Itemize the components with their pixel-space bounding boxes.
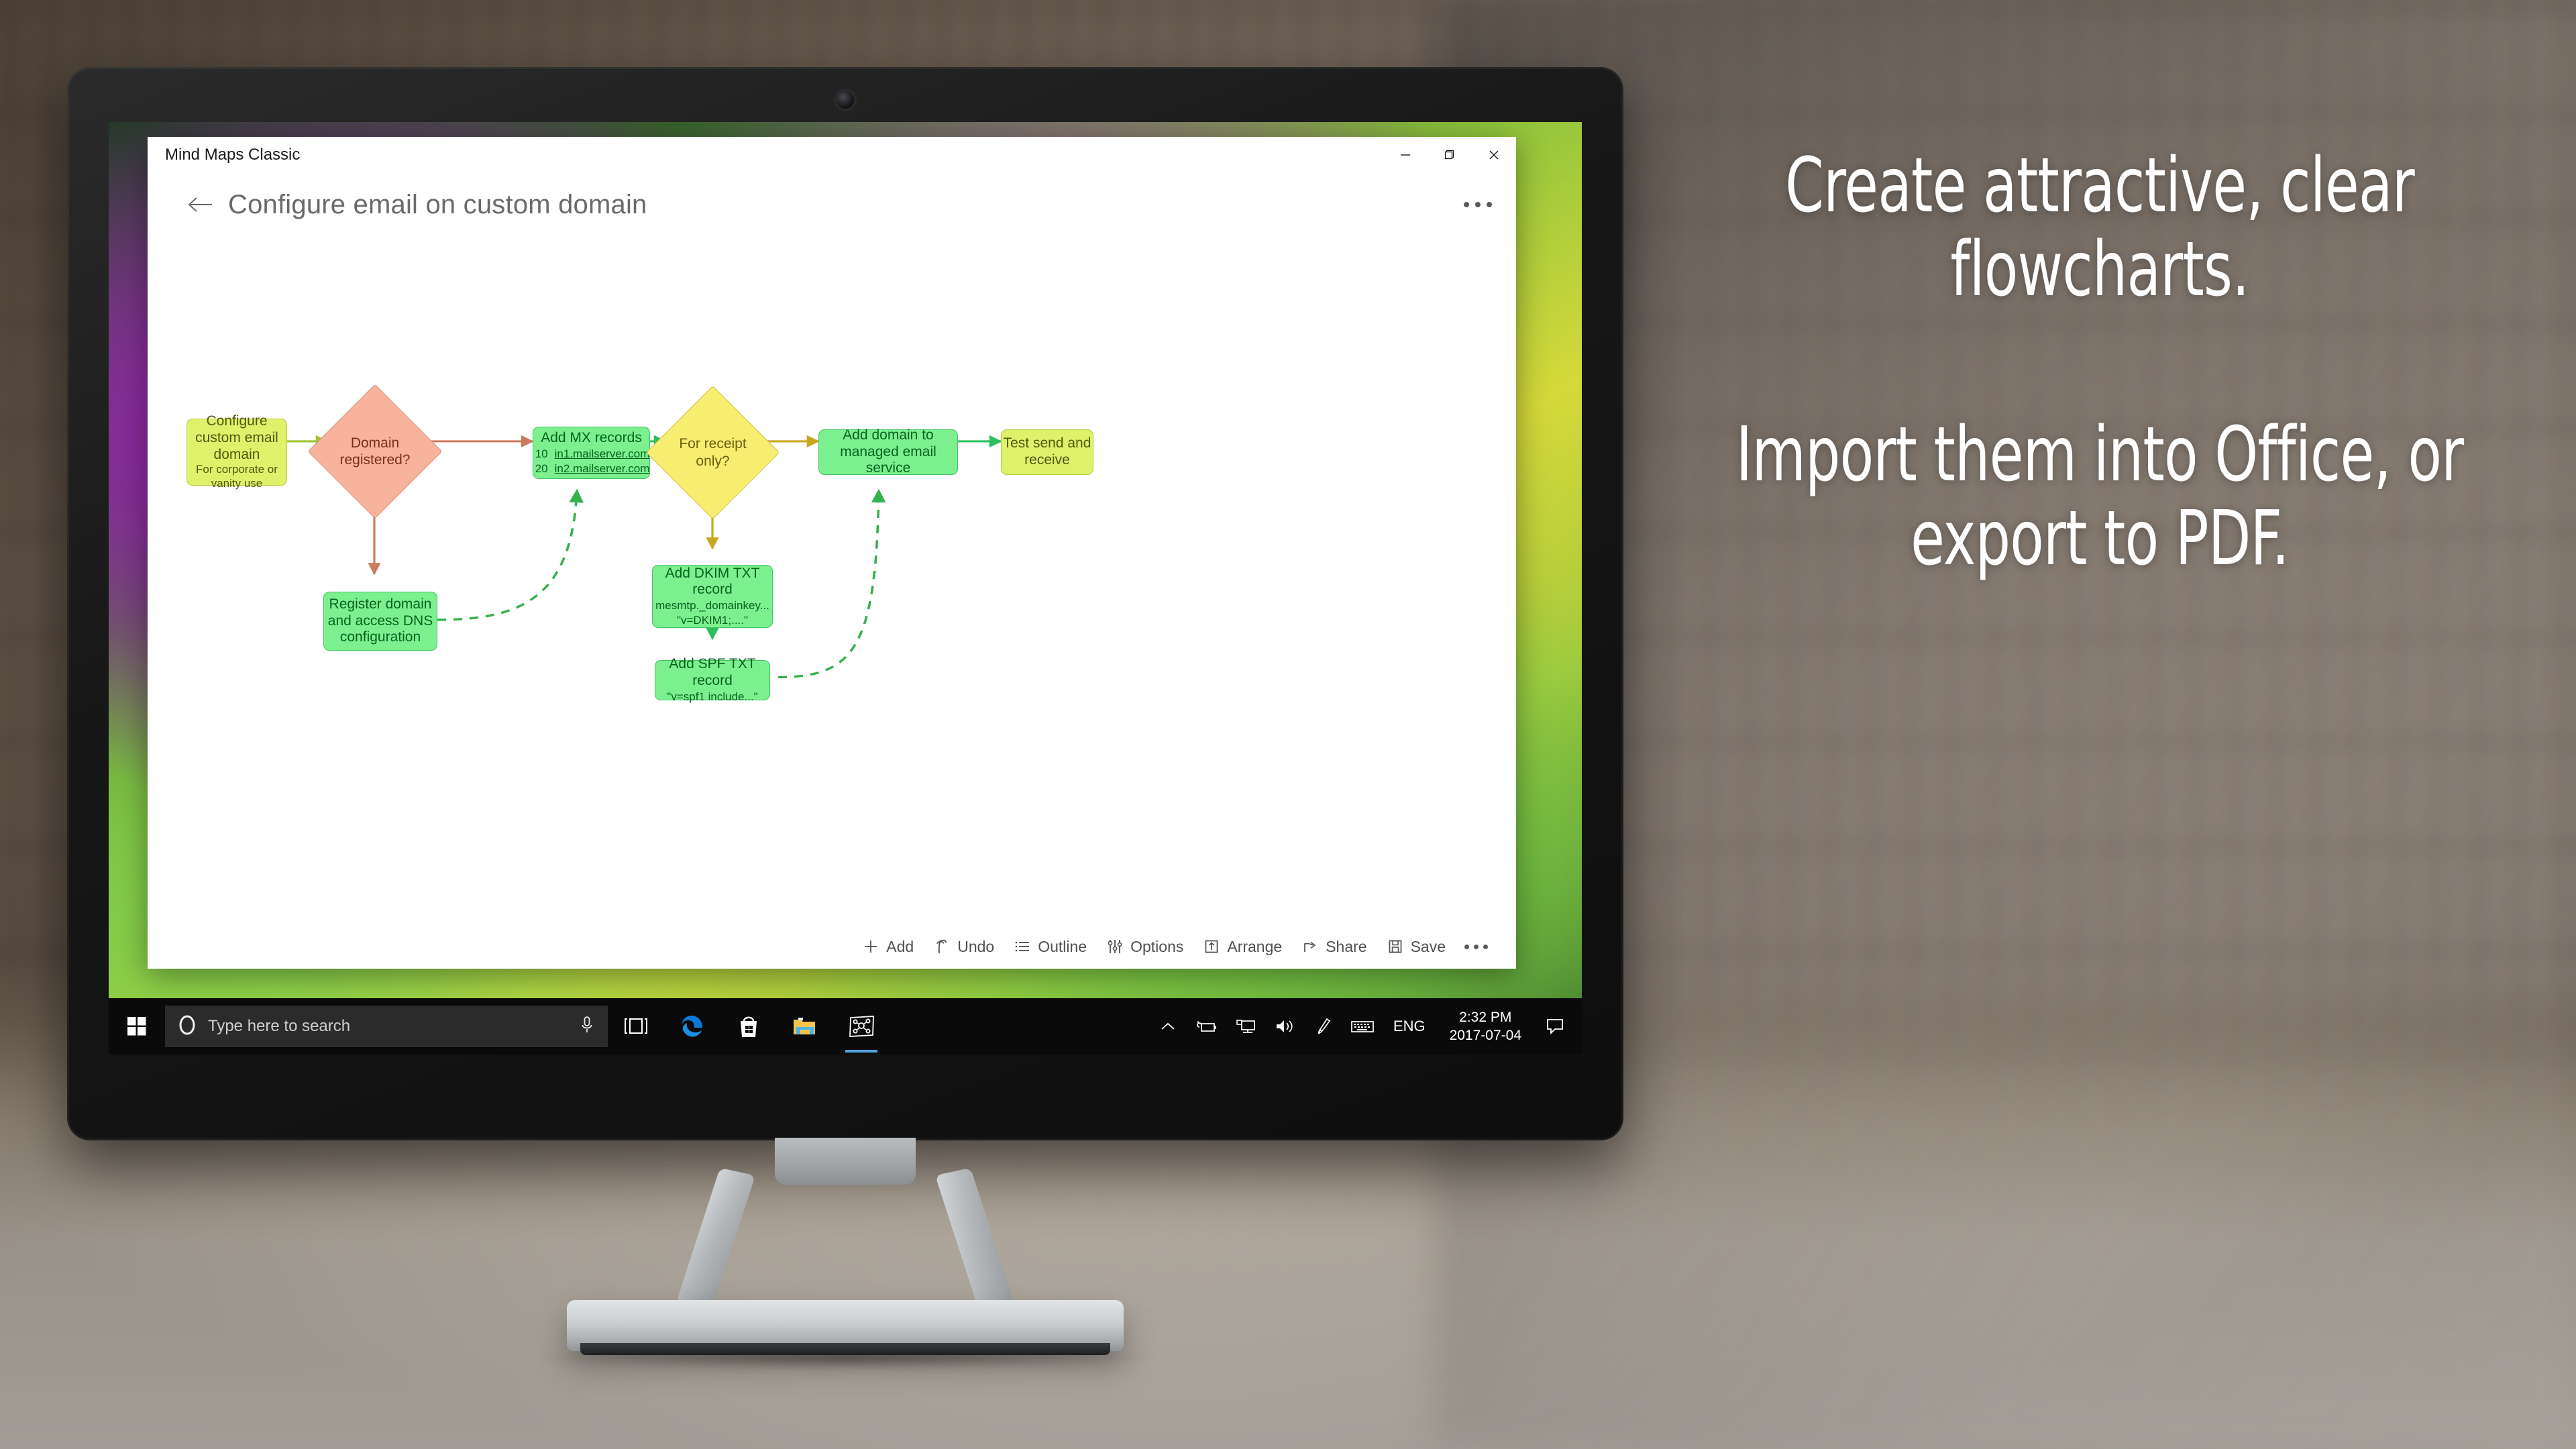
stand-base-front-strip bbox=[580, 1343, 1110, 1355]
node-add-spf-txt-record[interactable]: Add SPF TXT record "v=spf1 include..." bbox=[655, 660, 770, 700]
outline-icon bbox=[1013, 937, 1032, 956]
mx-priority: 20 bbox=[533, 462, 548, 476]
node-register-domain-and-access-dns-configuration[interactable]: Register domain and access DNS configura… bbox=[323, 592, 437, 651]
task-view-icon[interactable] bbox=[608, 998, 664, 1055]
command-bar: Add Undo bbox=[148, 924, 1516, 969]
share-button[interactable]: Share bbox=[1291, 933, 1376, 960]
volume-icon[interactable] bbox=[1266, 998, 1303, 1055]
node-for-receipt-only[interactable]: For receipt only? bbox=[665, 405, 760, 500]
save-icon bbox=[1386, 937, 1405, 956]
microsoft-edge-icon[interactable] bbox=[664, 998, 720, 1055]
minimize-button[interactable] bbox=[1383, 137, 1428, 173]
app-window: Mind Maps Classic bbox=[148, 137, 1516, 969]
file-explorer-icon[interactable] bbox=[777, 998, 833, 1055]
node-title: Test send and receive bbox=[1002, 435, 1093, 469]
node-subtitle: For corporate or vanity use bbox=[187, 463, 286, 490]
stand-leg-left bbox=[676, 1168, 755, 1310]
app-title: Mind Maps Classic bbox=[165, 146, 300, 164]
mx-host[interactable]: in1.mailserver.com bbox=[555, 447, 650, 461]
node-add-dkim-txt-record[interactable]: Add DKIM TXT record mesmtp._domainkey...… bbox=[652, 565, 773, 628]
battery-icon[interactable] bbox=[1188, 998, 1226, 1055]
command-bar-overflow-button[interactable] bbox=[1455, 938, 1499, 956]
dot bbox=[1475, 202, 1481, 207]
add-button[interactable]: Add bbox=[852, 933, 923, 960]
start-button[interactable] bbox=[109, 998, 165, 1055]
cortana-icon[interactable] bbox=[176, 1014, 199, 1040]
node-title: Domain registered? bbox=[327, 404, 423, 499]
save-button[interactable]: Save bbox=[1377, 933, 1455, 960]
node-title: For receipt only? bbox=[665, 405, 760, 500]
node-title: Add DKIM TXT record bbox=[653, 566, 772, 599]
node-title: Configure custom email domain bbox=[187, 413, 286, 463]
undo-button[interactable]: Undo bbox=[923, 933, 1004, 960]
button-label: Undo bbox=[957, 938, 994, 956]
stand-hinge bbox=[775, 1138, 916, 1185]
microsoft-store-icon[interactable] bbox=[720, 998, 777, 1055]
dot bbox=[1483, 945, 1488, 949]
marketing-paragraph-1: Create attractive, clear flowcharts. bbox=[1715, 144, 2485, 313]
button-label: Arrange bbox=[1227, 938, 1282, 956]
clock-date: 2017-07-04 bbox=[1450, 1026, 1521, 1044]
button-label: Options bbox=[1130, 938, 1183, 956]
flowchart-connectors: add MX records --> add domain to managed… bbox=[148, 236, 1516, 924]
restore-button[interactable] bbox=[1428, 137, 1472, 173]
clock[interactable]: 2:32 PM 2017-07-04 bbox=[1438, 1008, 1534, 1045]
mx-record-row: 10 in1.mailserver.com bbox=[533, 447, 650, 461]
node-title: Add domain to managed email service bbox=[819, 427, 957, 477]
node-title: Add SPF TXT record bbox=[655, 656, 769, 690]
chevron-up-icon[interactable] bbox=[1149, 998, 1187, 1055]
all-in-one-pc: Mind Maps Classic bbox=[67, 67, 1623, 1140]
button-label: Save bbox=[1411, 938, 1446, 956]
pen-icon[interactable] bbox=[1305, 998, 1342, 1055]
window-titlebar[interactable]: Mind Maps Classic bbox=[148, 137, 1516, 173]
network-icon[interactable] bbox=[1227, 998, 1265, 1055]
mind-maps-icon[interactable] bbox=[833, 998, 890, 1055]
header-more-button[interactable] bbox=[1464, 202, 1492, 207]
node-configure-custom-email-domain[interactable]: Configure custom email domain For corpor… bbox=[186, 419, 287, 486]
dot bbox=[1487, 202, 1492, 207]
windows-taskbar: Type here to search bbox=[109, 998, 1582, 1055]
node-domain-registered[interactable]: Domain registered? bbox=[327, 404, 423, 499]
button-label: Outline bbox=[1038, 938, 1087, 956]
mx-host[interactable]: in2.mailserver.com bbox=[555, 462, 650, 476]
dot bbox=[1464, 202, 1469, 207]
node-test-send-and-receive[interactable]: Test send and receive bbox=[1001, 429, 1093, 475]
back-arrow-icon[interactable] bbox=[180, 184, 221, 225]
button-label: Share bbox=[1326, 938, 1366, 956]
keyboard-icon[interactable] bbox=[1344, 998, 1381, 1055]
options-button[interactable]: Options bbox=[1096, 933, 1193, 960]
close-button[interactable] bbox=[1472, 137, 1516, 173]
clock-time: 2:32 PM bbox=[1450, 1008, 1521, 1026]
node-add-domain-to-managed-email-service[interactable]: Add domain to managed email service bbox=[818, 429, 958, 475]
monitor-screen: Mind Maps Classic bbox=[109, 122, 1582, 1055]
button-label: Add bbox=[886, 938, 914, 956]
mx-priority: 10 bbox=[533, 447, 548, 461]
microphone-icon[interactable] bbox=[578, 1015, 596, 1038]
dot bbox=[1464, 945, 1469, 949]
dot bbox=[1474, 945, 1479, 949]
marketing-paragraph-2: Import them into Office, or export to PD… bbox=[1715, 413, 2485, 582]
page-header: Configure email on custom domain bbox=[148, 173, 1516, 236]
node-add-mx-records[interactable]: Add MX records 10 in1.mailserver.com 20 … bbox=[533, 427, 650, 479]
node-detail-1: mesmtp._domainkey... bbox=[655, 599, 769, 613]
share-icon bbox=[1301, 937, 1320, 956]
undo-icon bbox=[932, 937, 951, 956]
search-input[interactable]: Type here to search bbox=[165, 1006, 608, 1047]
window-controls bbox=[1383, 137, 1516, 173]
mx-record-row: 20 in2.mailserver.com bbox=[533, 462, 650, 476]
stand-leg-right bbox=[935, 1168, 1014, 1310]
marketing-copy: Create attractive, clear flowcharts. Imp… bbox=[1630, 144, 2569, 582]
language-indicator[interactable]: ENG bbox=[1383, 1018, 1436, 1035]
node-detail-2: "v=DKIM1;...." bbox=[677, 614, 748, 628]
webcam-icon bbox=[837, 91, 854, 109]
outline-button[interactable]: Outline bbox=[1004, 933, 1096, 960]
system-tray: ENG 2:32 PM 2017-07-04 bbox=[1149, 998, 1582, 1055]
node-detail-1: "v=spf1 include..." bbox=[667, 690, 757, 704]
page-title: Configure email on custom domain bbox=[228, 190, 647, 220]
plus-icon bbox=[861, 937, 880, 956]
arrange-button[interactable]: Arrange bbox=[1193, 933, 1291, 960]
action-center-icon[interactable] bbox=[1535, 998, 1575, 1055]
node-title: Register domain and access DNS configura… bbox=[324, 596, 437, 646]
flowchart-canvas[interactable]: add MX records --> add domain to managed… bbox=[148, 236, 1516, 924]
sliders-icon bbox=[1106, 937, 1124, 956]
search-placeholder: Type here to search bbox=[208, 1017, 569, 1036]
node-title: Add MX records bbox=[541, 430, 642, 447]
monitor-stand-arm bbox=[496, 1138, 1194, 1319]
arrange-icon bbox=[1202, 937, 1221, 956]
